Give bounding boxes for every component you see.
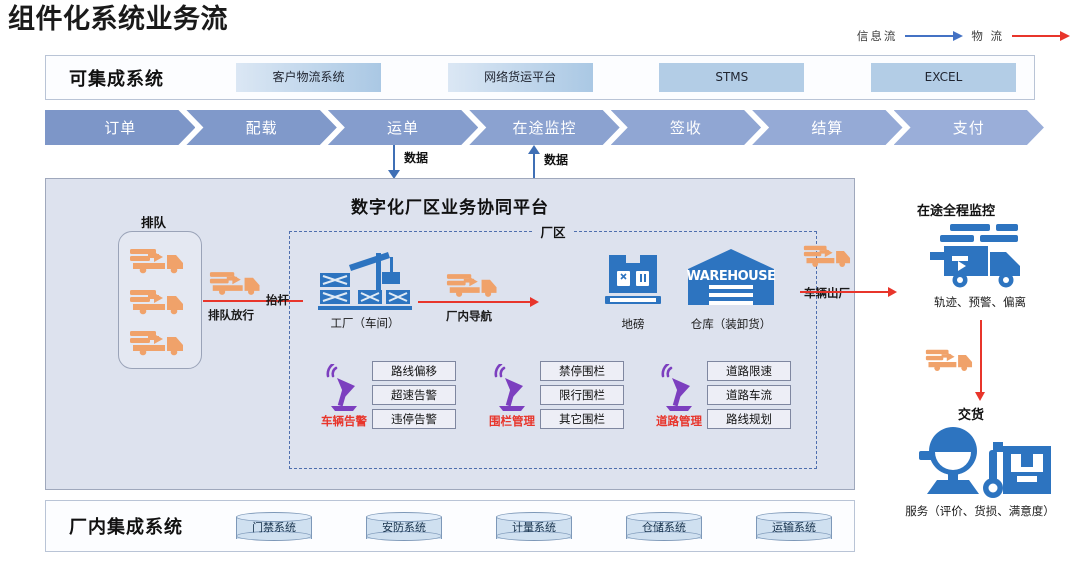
mgmt-icon-vehicle-alarm[interactable]: 车辆告警 (321, 364, 367, 429)
node-warehouse-label: 仓库（装卸货） (691, 316, 772, 332)
factory-systems-title: 厂内集成系统 (46, 513, 236, 539)
monitoring-caption: 轨迹、预警、偏离 (934, 294, 1026, 310)
process-flow: 订单 配载 运单 在途监控 签收 结算 支付 (45, 110, 1035, 145)
factory-systems-list: 门禁系统 安防系统 计量系统 仓储系统 运输系统 (236, 512, 854, 541)
mgmt-group-road-label: 道路管理 (656, 413, 702, 429)
factory-system-security[interactable]: 安防系统 (366, 512, 442, 541)
mgmt-item-illegal-parking[interactable]: 违停告警 (372, 409, 456, 429)
in-plant-nav-line (418, 301, 533, 303)
radar-antenna-icon (656, 364, 702, 412)
factory-systems-bar: 厂内集成系统 门禁系统 安防系统 计量系统 仓储系统 运输系统 (45, 500, 855, 552)
mgmt-group-road: 道路管理 道路限速 道路车流 路线规划 (656, 361, 791, 429)
truck-blue-icon (928, 222, 1032, 292)
weighbridge-box-icon (601, 249, 665, 313)
vehicle-exit-line (800, 291, 892, 293)
vehicle-exit-arrowhead (888, 287, 897, 297)
node-transit-truck (925, 345, 979, 372)
truck-orange-icon (129, 326, 191, 356)
system-chip-stms[interactable]: STMS (659, 63, 804, 92)
mgmt-item-restricted-fence[interactable]: 限行围栏 (540, 385, 624, 405)
truck-orange-icon (209, 267, 267, 296)
node-weighbridge[interactable]: 地磅 (601, 249, 665, 332)
system-chip-network-freight[interactable]: 网络货运平台 (448, 63, 593, 92)
queue-release-label: 排队放行 (208, 307, 254, 323)
integrable-systems-list: 客户物流系统 网络货运平台 STMS EXCEL (236, 63, 1034, 92)
factory-system-security-label: 安防系统 (366, 519, 442, 535)
node-in-plant-navigation-label: 厂内导航 (446, 308, 492, 324)
truck-orange-icon (803, 241, 857, 268)
mgmt-item-road-traffic[interactable]: 道路车流 (707, 385, 791, 405)
mgmt-group-fence: 围栏管理 禁停围栏 限行围栏 其它围栏 (489, 361, 624, 429)
legend-material-flow-label: 物 流 (971, 28, 1004, 44)
mgmt-item-route-deviation[interactable]: 路线偏移 (372, 361, 456, 381)
factory-system-access-control[interactable]: 门禁系统 (236, 512, 312, 541)
legend: 信息流 物 流 (857, 28, 1070, 44)
integrable-systems-bar: 可集成系统 客户物流系统 网络货运平台 STMS EXCEL (45, 55, 1035, 100)
data-arrow-down: 数据 (384, 145, 444, 179)
platform-title: 数字化厂区业务协同平台 (46, 193, 854, 218)
factory-zone-label: 厂区 (533, 222, 572, 241)
truck-orange-icon (925, 345, 979, 372)
node-warehouse[interactable]: WAREHOUSE 仓库（装卸货） (686, 247, 776, 332)
mgmt-icon-road[interactable]: 道路管理 (656, 364, 702, 429)
system-chip-excel[interactable]: EXCEL (871, 63, 1016, 92)
mgmt-items-fence: 禁停围栏 限行围栏 其它围栏 (540, 361, 624, 429)
factory-system-access-control-label: 门禁系统 (236, 519, 312, 535)
factory-system-warehousing[interactable]: 仓储系统 (626, 512, 702, 541)
warehouse-icon: WAREHOUSE (686, 247, 776, 315)
truck-orange-icon (129, 244, 191, 274)
node-factory-label: 工厂（车间） (331, 315, 400, 331)
arrow-right-icon-blue (905, 31, 963, 41)
mgmt-item-road-speed-limit[interactable]: 道路限速 (707, 361, 791, 381)
factory-crane-icon (316, 251, 414, 313)
flow-step-waybill[interactable]: 运单 (328, 110, 478, 145)
node-delivery[interactable]: 服务（评价、货损、满意度） (905, 420, 1055, 519)
radar-antenna-icon (489, 364, 535, 412)
flow-step-payment[interactable]: 支付 (894, 110, 1044, 145)
gate-lift-label: 抬杆 (266, 292, 289, 308)
monitoring-title: 在途全程监控 (917, 200, 995, 219)
warehouse-icon-text: WAREHOUSE (687, 269, 776, 284)
person-parcel-icon (905, 420, 1055, 502)
in-plant-nav-arrowhead (530, 297, 539, 307)
node-monitoring[interactable]: 轨迹、预警、偏离 (928, 222, 1032, 310)
integrable-systems-title: 可集成系统 (46, 65, 236, 91)
queue-box (118, 231, 202, 369)
mgmt-group-vehicle-alarm: 车辆告警 路线偏移 超速告警 违停告警 (321, 361, 456, 429)
queue-title: 排队 (141, 212, 166, 231)
flow-step-order[interactable]: 订单 (45, 110, 195, 145)
factory-system-transport[interactable]: 运输系统 (756, 512, 832, 541)
factory-system-metering[interactable]: 计量系统 (496, 512, 572, 541)
mgmt-icon-fence[interactable]: 围栏管理 (489, 364, 535, 429)
node-vehicle-exit[interactable] (803, 241, 857, 268)
factory-system-warehousing-label: 仓储系统 (626, 519, 702, 535)
mgmt-item-other-fence[interactable]: 其它围栏 (540, 409, 624, 429)
radar-antenna-icon (321, 364, 367, 412)
node-vehicle-exit-label: 车辆出厂 (804, 285, 850, 301)
delivery-caption: 服务（评价、货损、满意度） (905, 503, 1055, 519)
mgmt-item-no-parking-fence[interactable]: 禁停围栏 (540, 361, 624, 381)
flow-step-loading[interactable]: 配载 (186, 110, 336, 145)
legend-info-flow-label: 信息流 (857, 28, 898, 44)
node-factory[interactable]: 工厂（车间） (316, 251, 414, 331)
queue-release-truck (209, 267, 267, 296)
mgmt-item-route-planning[interactable]: 路线规划 (707, 409, 791, 429)
node-weighbridge-label: 地磅 (622, 316, 645, 332)
node-in-plant-navigation[interactable] (446, 269, 504, 298)
mgmt-items-vehicle-alarm: 路线偏移 超速告警 违停告警 (372, 361, 456, 429)
mgmt-items-road: 道路限速 道路车流 路线规划 (707, 361, 791, 429)
mgmt-item-overspeed-alarm[interactable]: 超速告警 (372, 385, 456, 405)
flow-step-settlement[interactable]: 结算 (752, 110, 902, 145)
factory-system-metering-label: 计量系统 (496, 519, 572, 535)
flow-step-in-transit[interactable]: 在途监控 (469, 110, 619, 145)
delivery-flow-line (980, 320, 982, 393)
factory-system-transport-label: 运输系统 (756, 519, 832, 535)
data-arrow-up: 数据 (524, 145, 584, 179)
flow-step-receipt[interactable]: 签收 (611, 110, 761, 145)
delivery-flow-arrowhead (975, 392, 985, 401)
truck-orange-icon (446, 269, 504, 298)
platform-panel: 数字化厂区业务协同平台 厂区 排队 (45, 178, 855, 490)
mgmt-group-fence-label: 围栏管理 (489, 413, 535, 429)
truck-orange-icon (129, 285, 191, 315)
system-chip-customer-logistics[interactable]: 客户物流系统 (236, 63, 381, 92)
mgmt-group-vehicle-alarm-label: 车辆告警 (321, 413, 367, 429)
page-title: 组件化系统业务流 (8, 2, 228, 38)
arrow-right-icon-red (1012, 31, 1070, 41)
